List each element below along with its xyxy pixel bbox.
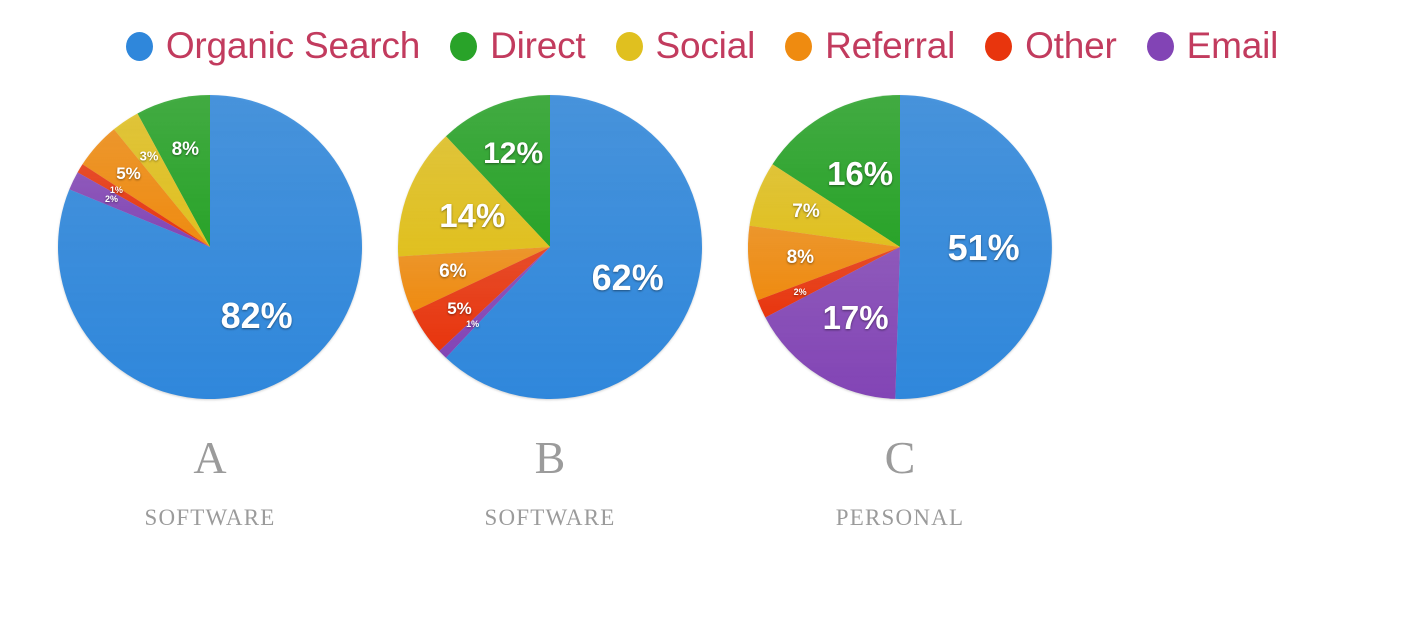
legend-item[interactable]: Referral: [785, 26, 955, 66]
legend-item-label: Social: [656, 26, 756, 66]
legend-dot-icon: [785, 32, 812, 61]
legend-dot-icon: [450, 32, 477, 61]
pie-slice[interactable]: [895, 95, 1052, 399]
pie-a-title: A: [193, 432, 226, 484]
legend-item[interactable]: Other: [985, 26, 1117, 66]
pie-c-plot[interactable]: 51%16%7%8%2%17%: [745, 92, 1055, 402]
pie-chart-b: 62%12%14%6%5%1% B SOFTWARE: [380, 92, 720, 532]
legend-item-label: Referral: [825, 26, 955, 66]
pie-chart-a: 82%8%3%5%1%2% A SOFTWARE: [40, 92, 380, 532]
legend-item[interactable]: Email: [1147, 26, 1279, 66]
legend-item-label: Other: [1025, 26, 1117, 66]
legend-item-label: Email: [1187, 26, 1279, 66]
legend-item-label: Organic Search: [166, 26, 420, 66]
legend-item[interactable]: Organic Search: [126, 26, 420, 66]
legend-dot-icon: [126, 32, 153, 61]
legend-item[interactable]: Direct: [450, 26, 585, 66]
pie-svg: [745, 92, 1055, 402]
pie-svg: [55, 92, 365, 402]
pie-a-subtitle: SOFTWARE: [144, 504, 275, 532]
legend-item[interactable]: Social: [616, 26, 756, 66]
pie-a-plot[interactable]: 82%8%3%5%1%2%: [55, 92, 365, 402]
legend-dot-icon: [1147, 32, 1174, 61]
legend-dot-icon: [616, 32, 643, 61]
pie-c-subtitle: PERSONAL: [836, 504, 964, 532]
chart-legend: Organic Search Direct Social Referral Ot…: [0, 0, 1404, 92]
pie-chart-row: 82%8%3%5%1%2% A SOFTWARE 62%12%14%6%5%1%…: [0, 92, 1404, 630]
pie-svg: [395, 92, 705, 402]
pie-b-plot[interactable]: 62%12%14%6%5%1%: [395, 92, 705, 402]
legend-dot-icon: [985, 32, 1012, 61]
pie-c-title: C: [885, 432, 916, 484]
pie-b-subtitle: SOFTWARE: [484, 504, 615, 532]
pie-chart-c: 51%16%7%8%2%17% C PERSONAL: [730, 92, 1070, 532]
pie-b-title: B: [535, 432, 566, 484]
legend-item-label: Direct: [490, 26, 585, 66]
